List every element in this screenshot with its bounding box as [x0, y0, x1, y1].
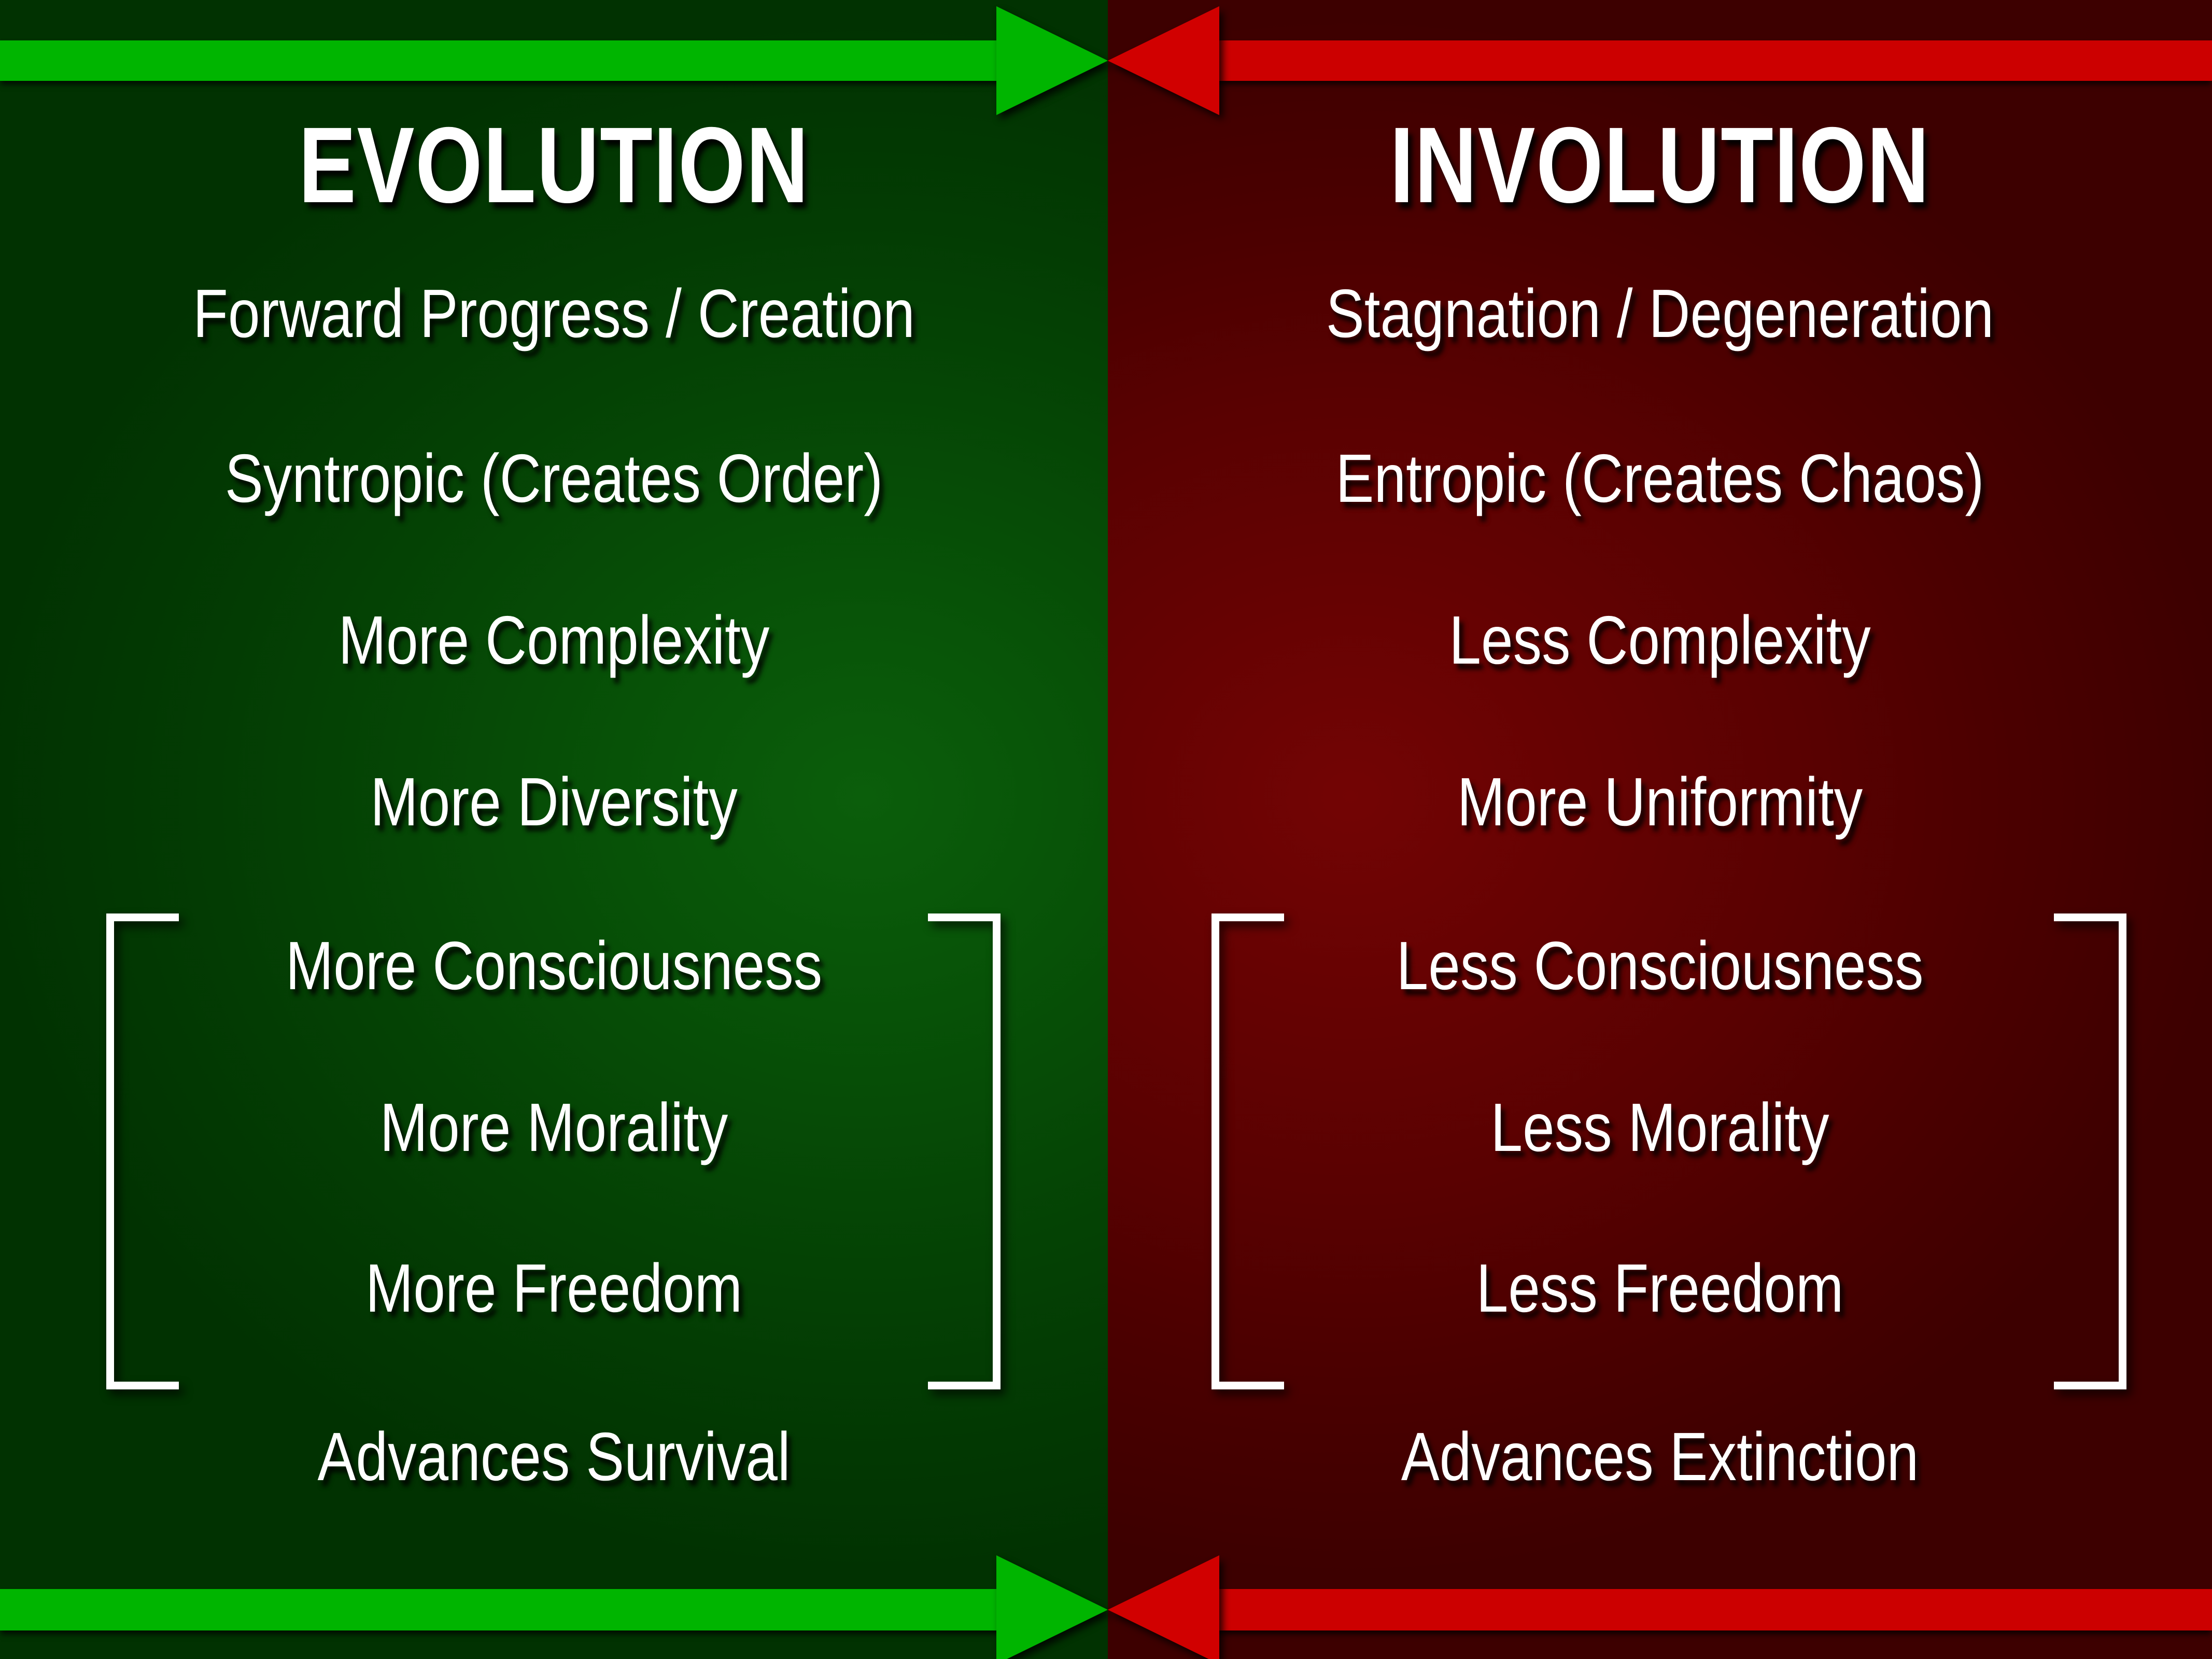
involution-row-item: Stagnation / Degeneration [1196, 275, 2123, 353]
evolution-row-item: More Consciousness [89, 927, 1019, 1005]
evolution-row-item: More Diversity [89, 763, 1019, 841]
involution-row-item: Less Freedom [1196, 1249, 2123, 1327]
bracket-right-bottom-arm [2054, 1382, 2126, 1389]
involution-row-item: Less Morality [1196, 1089, 2123, 1166]
involution-row-item: More Uniformity [1196, 763, 2123, 841]
bracket-right-top-arm [2054, 913, 2126, 921]
evolution-row-item: Advances Survival [89, 1418, 1019, 1496]
green-arrow-right-head-bottom [996, 1555, 1108, 1659]
evolution-column: EVOLUTION Forward Progress / Creation Sy… [0, 0, 1108, 1659]
involution-row-item: Less Complexity [1196, 601, 2123, 679]
comparison-slide: EVOLUTION Forward Progress / Creation Sy… [0, 0, 2212, 1659]
bracket-left-bottom-arm [1211, 1382, 1284, 1389]
green-arrow-right-shaft-bottom [0, 1589, 1053, 1630]
bracket-right-bottom-arm [928, 1382, 1001, 1389]
evolution-row-item: More Morality [89, 1089, 1019, 1166]
evolution-row-list: Forward Progress / Creation Syntropic (C… [0, 275, 1108, 1555]
evolution-row-item: Syntropic (Creates Order) [89, 440, 1019, 517]
bracket-left-top-arm [1211, 913, 1284, 921]
bracket-right-top-arm [928, 913, 1001, 921]
involution-row-item: Less Consciousness [1196, 927, 2123, 1005]
involution-row-item: Advances Extinction [1196, 1418, 2123, 1496]
bracket-left-bottom-arm [106, 1382, 179, 1389]
red-arrow-left-head-bottom [1108, 1555, 1219, 1659]
red-arrow-left-shaft-bottom [1160, 1589, 2212, 1630]
evolution-title: EVOLUTION [111, 111, 997, 219]
involution-row-list: Stagnation / Degeneration Entropic (Crea… [1108, 275, 2212, 1555]
evolution-row-item: More Complexity [89, 601, 1019, 679]
involution-column: INVOLUTION Stagnation / Degeneration Ent… [1108, 0, 2212, 1659]
involution-row-item: Entropic (Creates Chaos) [1196, 440, 2123, 517]
bottom-arrow-band [0, 1548, 2212, 1659]
involution-title: INVOLUTION [1218, 111, 2102, 219]
bracket-left-top-arm [106, 913, 179, 921]
evolution-row-item: More Freedom [89, 1249, 1019, 1327]
evolution-row-item: Forward Progress / Creation [89, 275, 1019, 353]
